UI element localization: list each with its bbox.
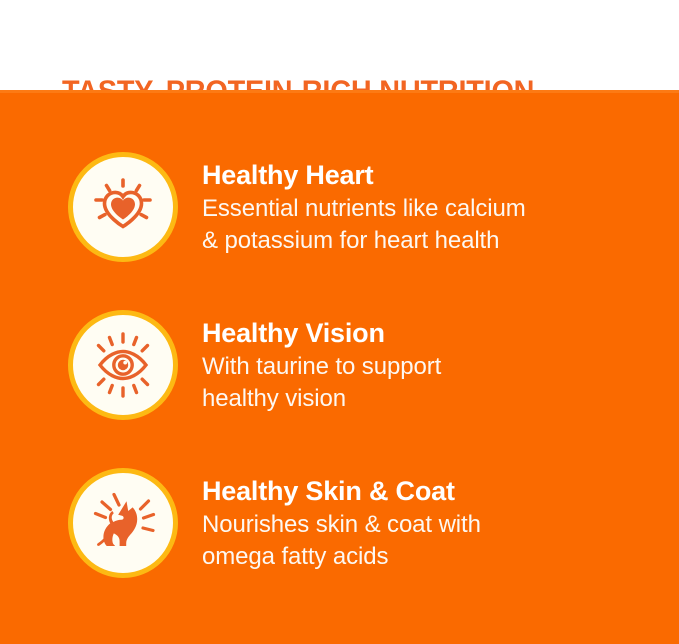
feature-title: Healthy Skin & Coat <box>202 474 679 508</box>
feature-description: With taurine to support healthy vision <box>202 351 679 415</box>
feature-title: Healthy Heart <box>202 158 679 192</box>
feature-description: Essential nutrients like calcium & potas… <box>202 193 679 257</box>
feature-title: Healthy Vision <box>202 316 679 350</box>
feature-text: Healthy Vision With taurine to support h… <box>202 310 679 415</box>
eye-rays-icon <box>68 310 178 420</box>
header-band: TASTY, PROTEIN-RICH NUTRITION FOR ADULT … <box>0 0 679 90</box>
pet-food-benefits-infographic: TASTY, PROTEIN-RICH NUTRITION FOR ADULT … <box>0 0 679 644</box>
panel-top-edge <box>0 90 679 93</box>
feature-row: Healthy Vision With taurine to support h… <box>0 310 679 450</box>
feature-row: Healthy Heart Essential nutrients like c… <box>0 152 679 292</box>
feature-text: Healthy Skin & Coat Nourishes skin & coa… <box>202 468 679 573</box>
feature-row: Healthy Skin & Coat Nourishes skin & coa… <box>0 468 679 608</box>
feature-description: Nourishes skin & coat with omega fatty a… <box>202 509 679 573</box>
cat-rays-icon <box>68 468 178 578</box>
heart-rays-icon <box>68 152 178 262</box>
benefits-panel: Healthy Heart Essential nutrients like c… <box>0 90 679 644</box>
feature-text: Healthy Heart Essential nutrients like c… <box>202 152 679 257</box>
